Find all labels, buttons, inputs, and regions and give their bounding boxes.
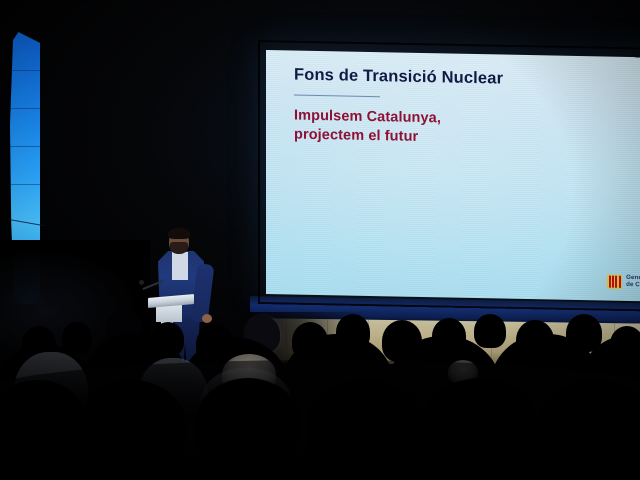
slide-title: Fons de Transició Nuclear (294, 65, 624, 92)
speaker-shirt (172, 252, 188, 280)
column-seam (10, 184, 40, 185)
microphone-icon (139, 280, 144, 285)
generalitat-logo-text: Genera de Cat (626, 275, 640, 289)
speaker-hair (168, 228, 190, 239)
lectern (148, 296, 194, 364)
logo-line-2: de Cat (626, 282, 640, 289)
stage-shadow-left (0, 240, 150, 360)
slide-subtitle: Impulsem Catalunya, projectem el futur (294, 106, 624, 152)
generalitat-logo: Genera de Cat (607, 275, 640, 290)
stage-photo-scene: Fons de Transició Nuclear Impulsem Catal… (0, 0, 640, 480)
lectern-stem (161, 320, 173, 364)
speaker-beard (170, 242, 188, 254)
column-seam (10, 146, 40, 147)
wall-shadow-falloff (246, 312, 366, 368)
slide-divider-rule (294, 94, 380, 97)
senyera-bars-icon (607, 275, 622, 289)
lectern-top (148, 294, 194, 308)
column-seam (10, 70, 40, 71)
slide-content: Fons de Transició Nuclear Impulsem Catal… (294, 65, 624, 152)
speaker-hand (202, 314, 212, 323)
column-seam (10, 108, 40, 109)
projection-screen: Fons de Transició Nuclear Impulsem Catal… (266, 50, 640, 301)
